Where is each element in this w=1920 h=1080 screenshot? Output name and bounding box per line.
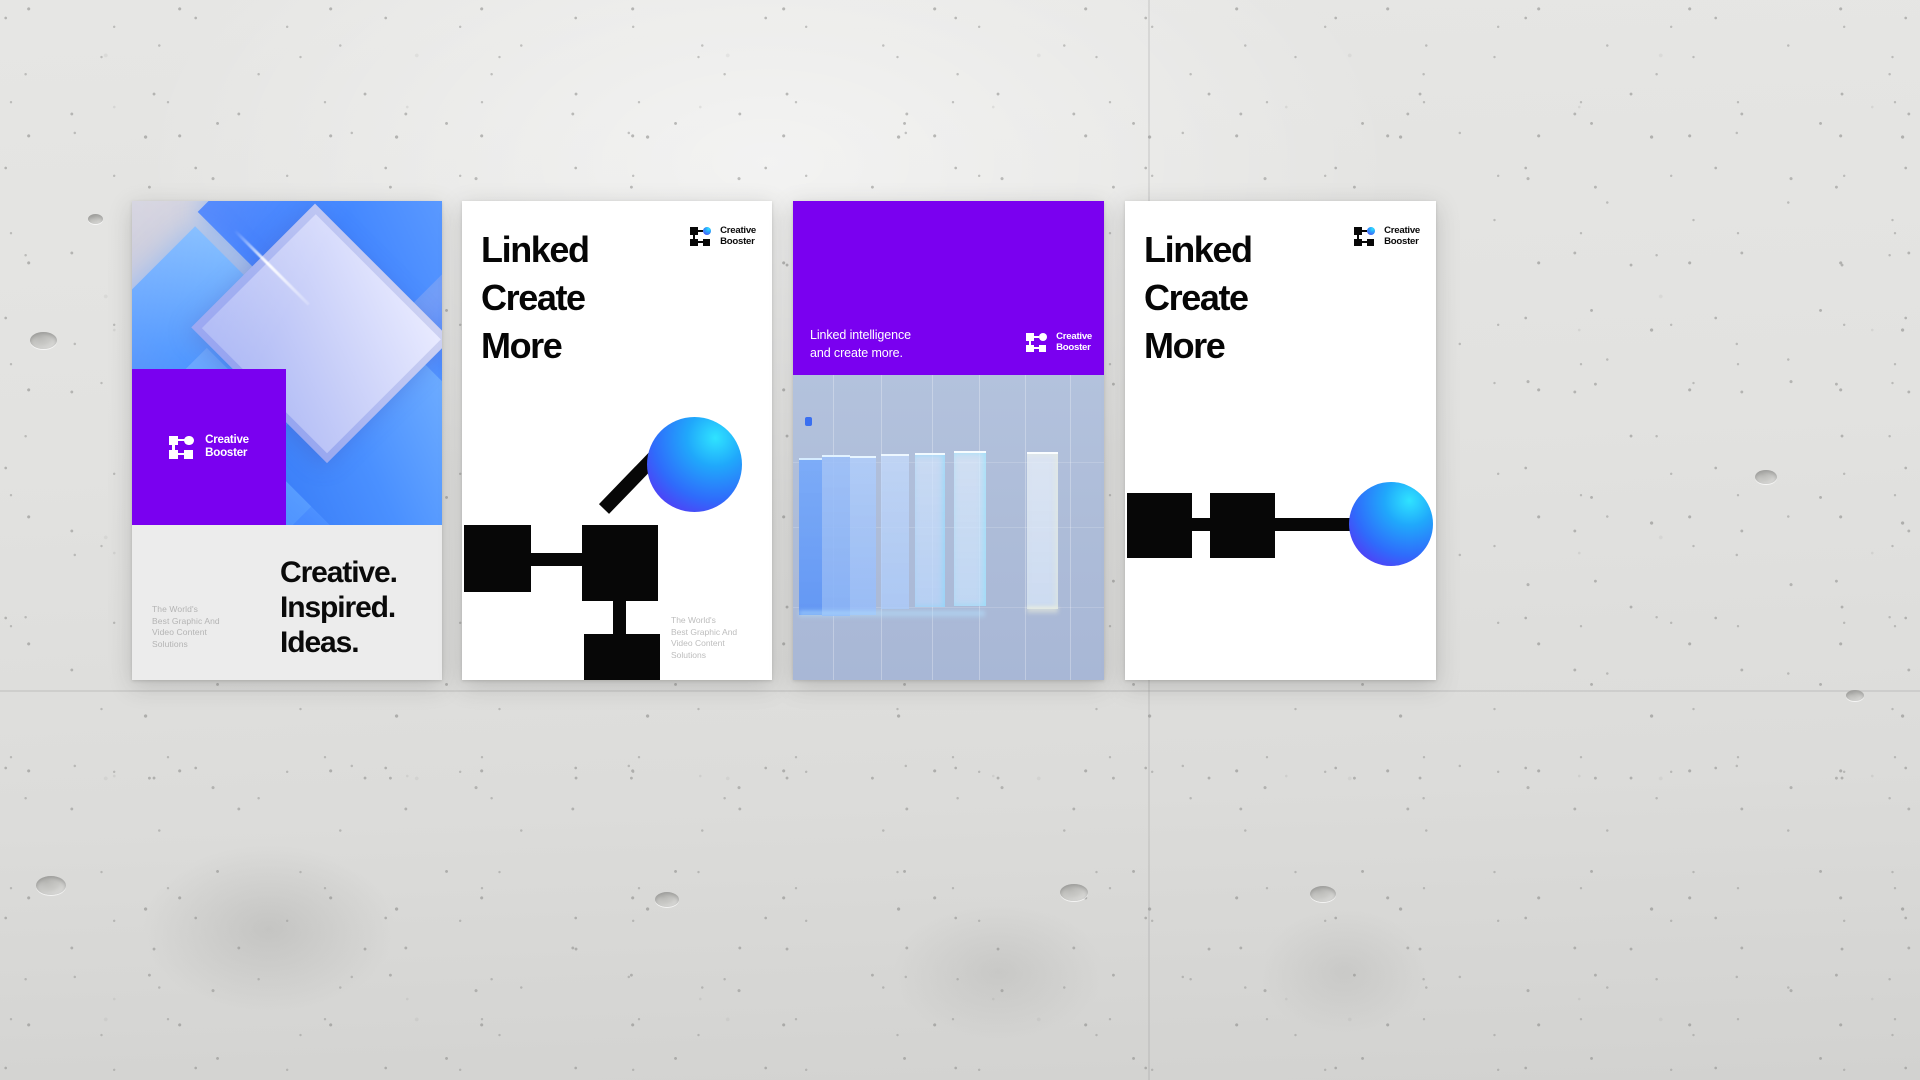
headline-line: More [481, 325, 561, 366]
wall-pit [30, 332, 57, 349]
node-square-bottom [584, 634, 660, 680]
glass-panel-reflection [799, 611, 985, 619]
wall-pit [1060, 884, 1088, 901]
node-square-left [1127, 493, 1192, 558]
logo-wordmark: Creative Booster [205, 434, 249, 460]
poster-3-logo: Creative Booster [1026, 332, 1092, 353]
glass-panel [881, 454, 909, 609]
poster-1[interactable]: Creative Booster The World's Best Graphi… [132, 201, 442, 680]
logo-lockup: Creative Booster [1354, 226, 1420, 247]
poster-4-node-graphic [1125, 486, 1436, 606]
logo-line-2: Booster [205, 446, 247, 459]
glass-panel [850, 456, 876, 615]
glass-panel [915, 453, 945, 607]
node-square-hub [582, 525, 658, 601]
fineprint-line: Video Content [152, 627, 207, 637]
fineprint-line: The World's [152, 604, 198, 614]
band-text-line: Linked intelligence [810, 328, 911, 342]
fineprint-line: Best Graphic And [671, 627, 737, 637]
logo-line-2: Booster [720, 236, 755, 247]
headline-line: Linked [1144, 229, 1252, 270]
wall-pit [36, 876, 66, 895]
node-connector-horizontal [529, 553, 584, 566]
node-sphere-gradient [647, 417, 742, 512]
logo-wordmark: Creative Booster [720, 226, 756, 247]
node-connector-vertical [613, 599, 626, 639]
logo-lockup: Creative Booster [690, 226, 756, 247]
glass-panel [822, 455, 850, 616]
wall-seam-horizontal [0, 690, 1920, 692]
poster-1-footer: The World's Best Graphic And Video Conte… [132, 525, 442, 680]
logo-wordmark: Creative Booster [1056, 332, 1092, 353]
node-sphere-gradient [1349, 482, 1433, 566]
logo-line-2: Booster [1056, 342, 1091, 353]
node-network-icon [690, 227, 714, 246]
wall-pit [88, 214, 103, 224]
poster-3[interactable]: Linked intelligence and create more. Cre… [793, 201, 1104, 680]
fineprint-line: The World's [671, 615, 716, 625]
headline-line: Linked [481, 229, 589, 270]
poster-2-fineprint: The World's Best Graphic And Video Conte… [671, 615, 737, 661]
wall-pit [1846, 690, 1864, 701]
glass-panel [799, 458, 822, 615]
headline-line: Create [481, 277, 585, 318]
fineprint-line: Solutions [671, 650, 706, 660]
fineprint-line: Best Graphic And [152, 616, 220, 626]
headline-line: More [1144, 325, 1224, 366]
headline-line: Create [1144, 277, 1248, 318]
poster-1-fineprint: The World's Best Graphic And Video Conte… [152, 604, 220, 650]
artwork-accent-dot [805, 417, 812, 426]
headline-line: Ideas. [280, 626, 358, 659]
poster-1-headline: Creative. Inspired. Ideas. [280, 555, 397, 660]
node-square-left [464, 525, 531, 592]
poster-1-brand-block: Creative Booster [132, 369, 286, 525]
wall-pit [1310, 886, 1336, 902]
fineprint-line: Solutions [152, 639, 188, 649]
headline-line: Creative. [280, 556, 397, 589]
logo-line-2: Booster [1384, 236, 1419, 247]
node-network-icon [1354, 227, 1378, 246]
poster-4[interactable]: Linked Create More Creative Booster [1125, 201, 1436, 680]
logo-lockup: Creative Booster [169, 434, 249, 460]
logo-wordmark: Creative Booster [1384, 226, 1420, 247]
logo-line-1: Creative [205, 433, 249, 446]
glass-panel [954, 451, 986, 606]
poster-2-headline: Linked Create More [481, 226, 589, 370]
logo-lockup: Creative Booster [1026, 332, 1092, 353]
node-network-icon [169, 436, 198, 459]
logo-line-1: Creative [1056, 331, 1092, 342]
logo-line-1: Creative [1384, 225, 1420, 236]
fineprint-line: Video Content [671, 638, 725, 648]
glass-panel-reflection [1027, 607, 1058, 615]
poster-2[interactable]: Linked Create More Creative Booster [462, 201, 772, 680]
headline-line: Inspired. [280, 591, 395, 624]
poster-4-headline: Linked Create More [1144, 226, 1252, 370]
logo-line-1: Creative [720, 225, 756, 236]
band-text-line: and create more. [810, 346, 903, 360]
glass-panel [1027, 452, 1058, 609]
node-square-middle [1210, 493, 1275, 558]
poster-2-logo: Creative Booster [690, 226, 756, 247]
wall-pit [655, 892, 679, 907]
poster-3-artwork-glass-panels [793, 375, 1104, 680]
wall-pit [1755, 470, 1777, 484]
poster-4-logo: Creative Booster [1354, 226, 1420, 247]
poster-3-band-text: Linked intelligence and create more. [810, 326, 911, 362]
node-network-icon [1026, 333, 1050, 352]
